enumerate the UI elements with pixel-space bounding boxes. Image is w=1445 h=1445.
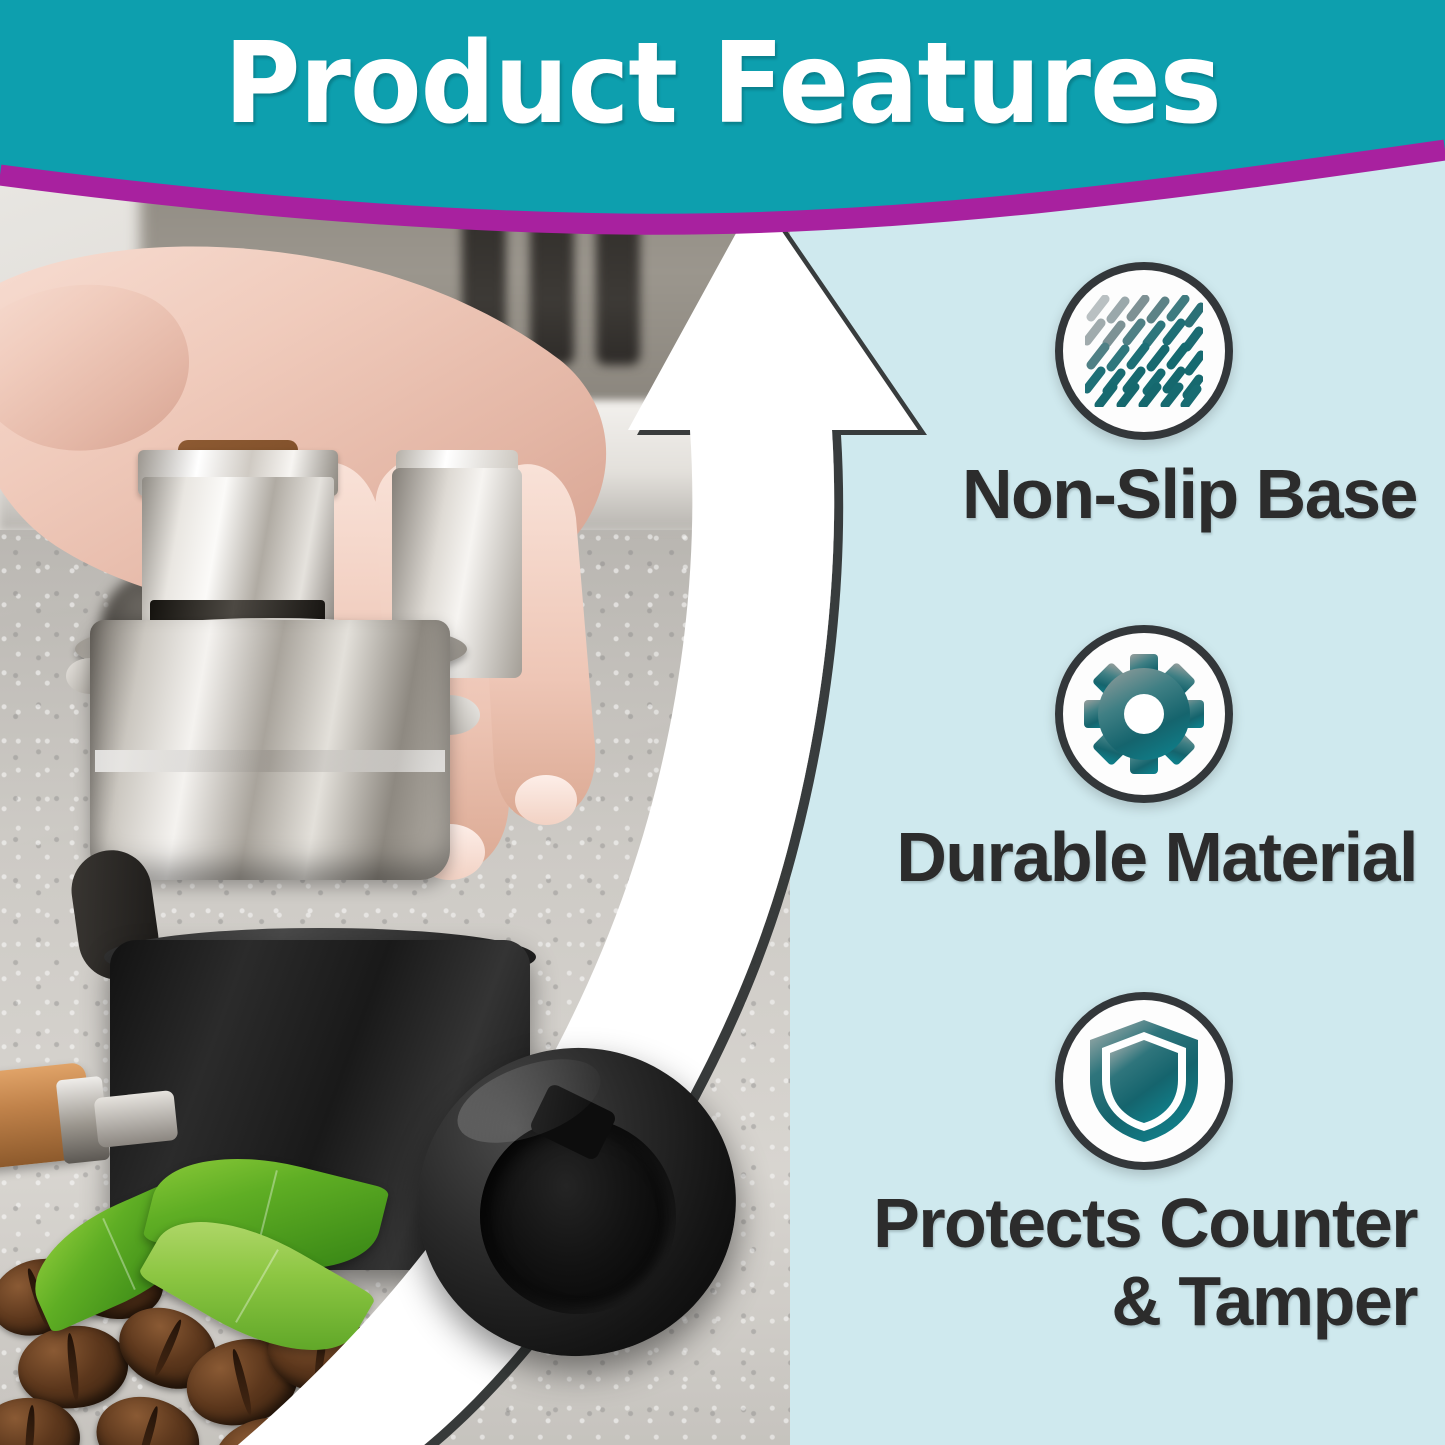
product-features-infographic: Product Features	[0, 0, 1445, 1445]
feature-label-durable-material: Durable Material	[896, 818, 1417, 896]
portafilter-highlight-band	[95, 750, 445, 772]
shield-icon	[1055, 992, 1233, 1170]
gear-icon	[1055, 625, 1233, 803]
portafilter-neck	[94, 1090, 179, 1148]
page-title: Product Features	[51, 22, 1395, 147]
feature-label-protects-counter: Protects Counter & Tamper	[873, 1184, 1417, 1341]
feature-list: Non-Slip Base	[700, 150, 1445, 1445]
feature-label-non-slip-base: Non-Slip Base	[962, 455, 1417, 533]
silicone-ring-product-shot	[418, 1040, 748, 1370]
non-slip-texture-icon	[1055, 262, 1233, 440]
